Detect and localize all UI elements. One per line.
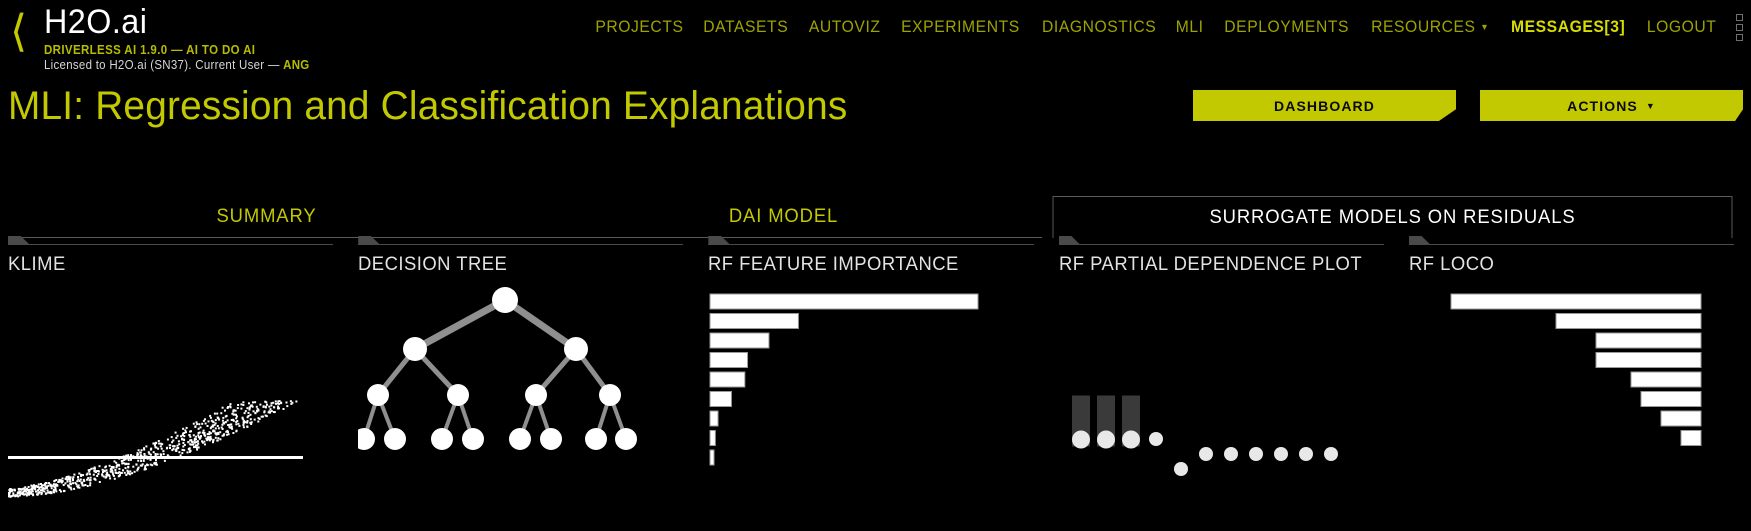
card-rule-line [1409,244,1734,245]
app-logo[interactable]: H2O.ai [44,2,318,42]
nav-item-logout[interactable]: LOGOUT [1647,18,1717,37]
page-action-buttons: DASHBOARD ACTIONS ▼ [1193,90,1743,121]
card-title-decision-tree: DECISION TREE [358,254,682,276]
grid-menu-icon-dot-3 [1736,34,1743,41]
app-header: ⟨ H2O.ai DRIVERLESS AI 1.9.0 — AI TO DO … [0,0,1751,88]
mli-explanations-page: ⟨ H2O.ai DRIVERLESS AI 1.9.0 — AI TO DO … [0,0,1751,531]
page-title-row: MLI: Regression and Classification Expla… [0,88,1751,146]
card-rf-partial-dependence-plot[interactable]: RF PARTIAL DEPENDENCE PLOT [1051,236,1401,531]
nav-item-diagnostics[interactable]: DIAGNOSTICS [1042,18,1156,37]
nav-item-deployments[interactable]: DEPLOYMENTS [1224,18,1349,37]
nav-item-datasets[interactable]: DATASETS [704,18,789,37]
dashboard-button[interactable]: DASHBOARD [1193,90,1456,121]
back-chevron-icon[interactable]: ⟨ [10,12,36,56]
card-rule [708,236,1042,245]
card-rule [358,236,692,245]
license-text: Licensed to H2O.ai (SN37). Current User … [44,58,280,72]
grid-menu-icon[interactable] [1736,14,1743,41]
tab-dai-model[interactable]: DAI MODEL [533,196,1034,238]
decision-tree-thumbnail [358,282,653,522]
tab-surrogate-models-on-residuals[interactable]: SURROGATE MODELS ON RESIDUALS [1053,196,1733,238]
brand-block: H2O.ai DRIVERLESS AI 1.9.0 — AI TO DO AI… [44,2,333,73]
nav-item-messages[interactable]: MESSAGES[3] [1511,18,1625,37]
chevron-down-icon: ▼ [1646,101,1656,111]
card-rule [1409,236,1743,245]
grid-menu-icon-dot-2 [1736,24,1743,31]
rf-loco-thumbnail [1409,282,1704,522]
card-rule-line [358,244,683,245]
grid-menu-icon-dot-1 [1736,14,1743,21]
chevron-down-icon: ▼ [1480,22,1489,32]
card-title-rf-partial-dependence-plot: RF PARTIAL DEPENDENCE PLOT [1059,254,1383,276]
card-title-klime: KLIME [8,254,332,276]
actions-button-label: ACTIONS [1567,98,1638,114]
nav-item-resources-label: RESOURCES [1371,18,1475,36]
rf-pdp-thumbnail [1059,282,1354,522]
card-rf-loco[interactable]: RF LOCO [1401,236,1751,531]
actions-button[interactable]: ACTIONS ▼ [1480,90,1743,121]
card-klime[interactable]: KLIME [0,236,350,531]
card-rf-feature-importance[interactable]: RF FEATURE IMPORTANCE [700,236,1050,531]
card-title-rf-feature-importance: RF FEATURE IMPORTANCE [708,254,1032,276]
explanation-card-grid: KLIME DECISION TREE [0,236,1751,531]
card-decision-tree[interactable]: DECISION TREE [350,236,700,531]
card-rule-line [708,244,1033,245]
top-navigation: PROJECTS DATASETS AUTOVIZ EXPERIMENTS DI… [593,14,1743,41]
nav-item-autoviz[interactable]: AUTOVIZ [809,18,881,37]
nav-item-experiments[interactable]: EXPERIMENTS [901,18,1020,37]
tab-bar: SUMMARY DAI MODEL SURROGATE MODELS ON RE… [0,180,1751,238]
nav-item-resources[interactable]: RESOURCES▼ [1371,18,1489,37]
card-rule [8,236,342,245]
page-title: MLI: Regression and Classification Expla… [8,84,847,129]
dashboard-button-label: DASHBOARD [1274,98,1375,114]
card-rule [1059,236,1393,245]
card-title-rf-loco: RF LOCO [1409,254,1733,276]
card-rule-line [8,244,333,245]
card-rule-line [1059,244,1384,245]
license-label: Licensed to H2O.ai (SN37). Current User … [44,58,310,73]
product-version-label: DRIVERLESS AI 1.9.0 — AI TO DO AI [44,43,310,58]
current-user-name: ANG [283,58,309,72]
klime-scatter-thumbnail [8,282,303,522]
tab-summary[interactable]: SUMMARY [16,196,517,238]
nav-item-projects[interactable]: PROJECTS [595,18,683,37]
rf-feature-importance-thumbnail [708,282,1003,522]
nav-item-mli[interactable]: MLI [1176,18,1204,37]
